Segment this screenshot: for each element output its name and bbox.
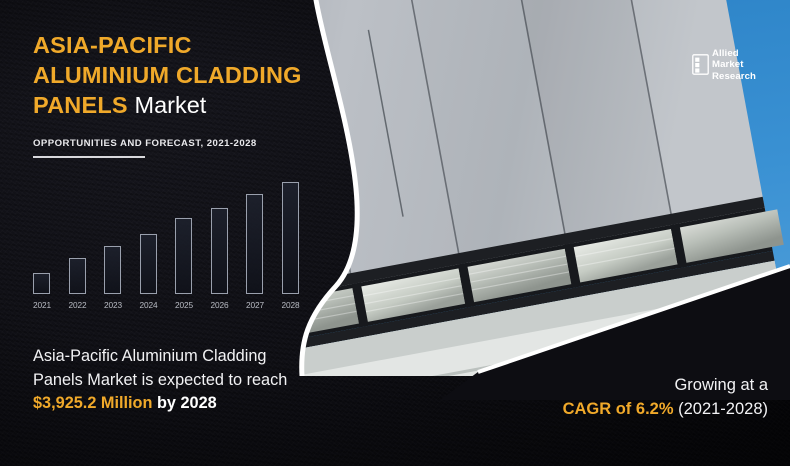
- statement-year-tail: by 2028: [152, 394, 216, 412]
- logo-line-1: Allied: [712, 48, 756, 59]
- logo-wordmark: Allied Market Research: [712, 48, 756, 82]
- statement-line-2: Panels Market is expected to reach: [33, 371, 287, 389]
- statement-line-1: Asia-Pacific Aluminium Cladding: [33, 347, 266, 365]
- chart-x-axis-labels: 2021 2022 2023 2024 2025 2026 2027 2028: [33, 300, 318, 310]
- market-value: $3,925.2 Million: [33, 394, 152, 412]
- logo-line-3: Research: [712, 71, 756, 82]
- bar-2026: [211, 208, 228, 294]
- title-line-3: PANELS: [33, 92, 128, 118]
- x-label-2028: 2028: [282, 300, 299, 310]
- cagr-period: (2021-2028): [678, 400, 768, 418]
- infographic-canvas: Allied Market Research ASIA-PACIFIC ALUM…: [0, 0, 790, 466]
- title-market-word: Market: [135, 92, 207, 118]
- allied-market-research-logo[interactable]: Allied Market Research: [692, 48, 756, 82]
- cagr-block: Growing at a CAGR of 6.2% (2021-2028): [563, 373, 768, 423]
- cagr-rate: CAGR of 6.2%: [563, 400, 674, 418]
- bar-2027: [246, 194, 263, 294]
- cagr-lead-text: Growing at a: [563, 373, 768, 398]
- title-line-1: ASIA-PACIFIC: [33, 32, 192, 58]
- cagr-value-row: CAGR of 6.2% (2021-2028): [563, 397, 768, 422]
- bar-2022: [69, 258, 86, 294]
- logo-line-2: Market: [712, 59, 756, 70]
- market-statement: Asia-Pacific Aluminium Cladding Panels M…: [33, 345, 345, 416]
- x-label-2021: 2021: [33, 300, 50, 310]
- header-block: ASIA-PACIFIC ALUMINIUM CLADDING PANELS M…: [33, 30, 333, 158]
- title-line-2: ALUMINIUM CLADDING: [33, 62, 302, 88]
- subtitle: OPPORTUNITIES AND FORECAST, 2021-2028: [33, 138, 333, 149]
- x-label-2023: 2023: [104, 300, 121, 310]
- x-label-2026: 2026: [211, 300, 228, 310]
- x-label-2027: 2027: [246, 300, 263, 310]
- bar-2024: [140, 234, 157, 294]
- bar-2021: [33, 273, 50, 294]
- x-label-2022: 2022: [69, 300, 86, 310]
- x-label-2025: 2025: [175, 300, 192, 310]
- bar-2025: [175, 218, 192, 294]
- chart-bars: [33, 176, 318, 294]
- subtitle-underline: [33, 156, 145, 158]
- checklist-document-icon: [692, 54, 709, 75]
- page-title: ASIA-PACIFIC ALUMINIUM CLADDING PANELS M…: [33, 30, 333, 120]
- x-label-2024: 2024: [140, 300, 157, 310]
- bar-2023: [104, 246, 121, 294]
- forecast-bar-chart: 2021 2022 2023 2024 2025 2026 2027 2028: [33, 176, 318, 321]
- bar-2028: [282, 182, 299, 294]
